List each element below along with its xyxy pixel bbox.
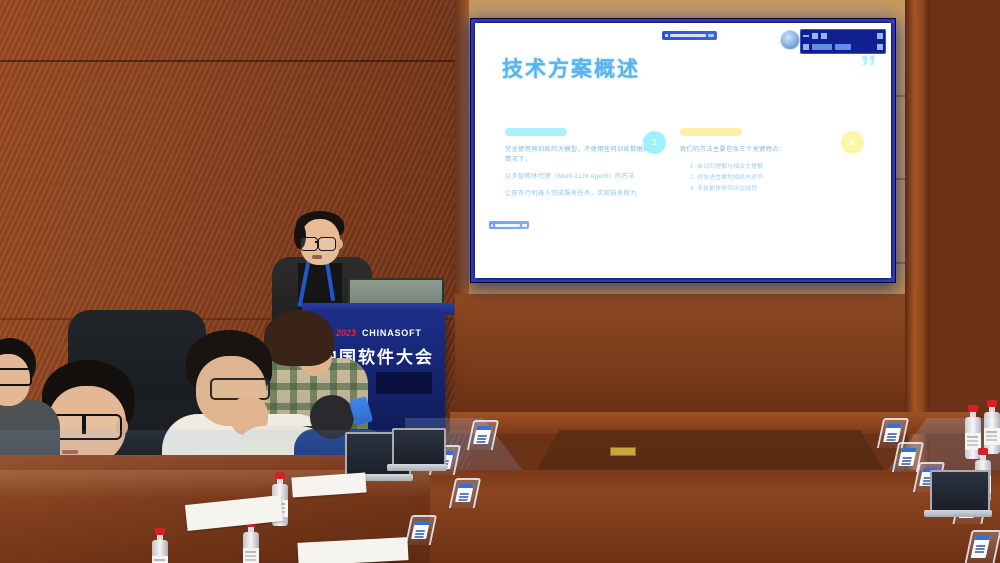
- settings-icon[interactable]: [877, 44, 883, 50]
- name-card-holder: [452, 478, 478, 508]
- water-bottle: [152, 528, 168, 563]
- maximize-icon[interactable]: [812, 33, 818, 39]
- annotate-button[interactable]: [835, 44, 851, 50]
- microphone-icon[interactable]: [803, 44, 809, 50]
- wall-plaque: [610, 447, 636, 456]
- section-tag-cyan: [505, 128, 567, 136]
- name-card-holder: [968, 530, 998, 563]
- slide-right-column: 我们的方法主要包含三个关键特点： 1. 自动同理解与相关文理解 2. 视觉语言模…: [680, 128, 845, 195]
- speaker-glasses-bridge: [315, 241, 319, 243]
- slide-status-badge: [489, 221, 529, 229]
- wainscot-panel: [455, 294, 910, 424]
- speaker-glasses-right: [318, 237, 336, 251]
- paper-document: [297, 537, 408, 563]
- participant-avatar: [780, 30, 800, 50]
- speaker-glasses-left: [300, 237, 318, 251]
- more-options-icon[interactable]: [877, 33, 883, 39]
- left-paragraph-2: 以多智能体代理（Multi-LLM Agent）的方法: [505, 172, 650, 182]
- slide-title: 技术方案概述: [502, 53, 640, 83]
- podium-shadow-panel: [376, 372, 432, 394]
- slide-canvas: ” 技术方案概述 完全使用预训练的大模型，不使用任何训练数据的情况下， 以多智能…: [475, 23, 891, 278]
- speaker-ear: [336, 239, 343, 249]
- left-paragraph-3: 让现有行机器人完成服务任务，实现自身能力: [505, 189, 650, 199]
- right-heading: 我们的方法主要包含三个关键特点：: [680, 145, 845, 155]
- slide-left-column: 完全使用预训练的大模型，不使用任何训练数据的情况下， 以多智能体代理（Multi…: [505, 128, 650, 206]
- key-features-list: 1. 自动同理解与相关文理解 2. 视觉语言模型相机内对齐 3. 多智能体协同评…: [690, 162, 845, 195]
- share-button[interactable]: [812, 44, 832, 50]
- left-paragraph-1: 完全使用预训练的大模型，不使用任何训练数据的情况下，: [505, 145, 650, 165]
- feature-item-3: 3. 多智能体协同评估规划: [690, 184, 845, 195]
- close-icon[interactable]: [821, 33, 827, 39]
- step-badge-1: 1: [643, 131, 666, 154]
- screen-share-indicator: [662, 31, 717, 40]
- step-badge-2: 2: [841, 131, 864, 154]
- name-card-holder: [408, 515, 434, 545]
- minimize-icon[interactable]: [803, 35, 809, 37]
- name-card-holder: [470, 420, 496, 450]
- water-bottle: [243, 520, 259, 563]
- feature-item-1: 1. 自动同理解与相关文理解: [690, 162, 845, 173]
- podium-brand-en: CHINASOFT: [362, 328, 422, 338]
- water-bottle: [984, 400, 1000, 454]
- wall-seam: [0, 60, 470, 62]
- section-tag-yellow: [680, 128, 742, 136]
- speaker-mouth: [312, 255, 322, 259]
- quote-decoration: ”: [860, 57, 875, 79]
- wall-trim-left: [455, 0, 469, 300]
- feature-item-2: 2. 视觉语言模型相机内对齐: [690, 173, 845, 184]
- conference-room-scene: ” 技术方案概述 完全使用预训练的大模型，不使用任何训练数据的情况下， 以多智能…: [0, 0, 1000, 563]
- attendee-far-left-glasses: [0, 368, 32, 386]
